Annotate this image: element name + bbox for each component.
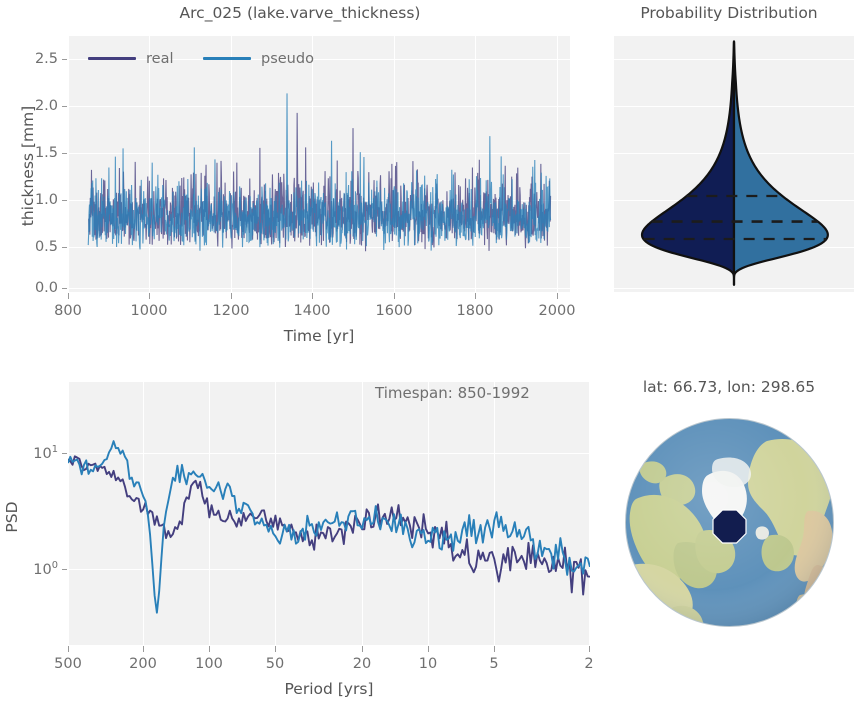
psd-xtick-label-100: 100 bbox=[195, 656, 223, 672]
psd-ytick-exp-0: 0 bbox=[52, 560, 58, 571]
psd-xtick-label-50: 50 bbox=[266, 656, 284, 672]
xtick-label-1600: 1600 bbox=[376, 303, 413, 319]
xtick-label-2000: 2000 bbox=[539, 303, 576, 319]
psd-ytick-mark-10e0 bbox=[62, 569, 67, 570]
timeseries-curves bbox=[68, 36, 570, 292]
map-title: lat: 66.73, lon: 298.65 bbox=[600, 378, 858, 396]
map-panel: lat: 66.73, lon: 298.65 bbox=[600, 360, 858, 711]
psd-xtick-label-2: 2 bbox=[584, 656, 593, 672]
xtick-mark-1600 bbox=[394, 293, 395, 299]
psd-timespan-annotation: Timespan: 850-1992 bbox=[375, 384, 530, 402]
psd-ytick-mark-10e1 bbox=[62, 453, 67, 454]
psd-xlabel: Period [yrs] bbox=[68, 680, 590, 698]
ytick-mark-0.0 bbox=[62, 288, 67, 289]
psd-curves bbox=[68, 382, 590, 645]
psd-xtick-mark-200 bbox=[143, 646, 144, 652]
legend-label-real: real bbox=[146, 51, 173, 67]
site-marker-icon bbox=[713, 510, 746, 543]
ytick-mark-2.0 bbox=[62, 106, 67, 107]
psd-panel: Timespan: 850-1992 101 100 500 200 100 5… bbox=[0, 360, 600, 711]
xtick-mark-2000 bbox=[557, 293, 558, 299]
psd-xtick-mark-5 bbox=[494, 646, 495, 652]
psd-xtick-mark-10 bbox=[428, 646, 429, 652]
ytick-label-2.5: 2.5 bbox=[18, 51, 58, 67]
psd-xtick-mark-500 bbox=[68, 646, 69, 652]
psd-xtick-mark-100 bbox=[209, 646, 210, 652]
violin-title: Probability Distribution bbox=[600, 4, 858, 22]
psd-ylabel: PSD bbox=[3, 447, 21, 587]
xtick-label-1000: 1000 bbox=[131, 303, 168, 319]
legend-swatch-pseudo bbox=[203, 57, 251, 60]
ytick-mark-1.5 bbox=[62, 153, 67, 154]
xtick-mark-800 bbox=[68, 293, 69, 299]
psd-xtick-mark-50 bbox=[275, 646, 276, 652]
ytick-mark-1.0 bbox=[62, 200, 67, 201]
timeseries-title: Arc_025 (lake.varve_thickness) bbox=[0, 4, 600, 22]
psd-xtick-label-20: 20 bbox=[353, 656, 371, 672]
legend-swatch-real bbox=[88, 57, 136, 60]
timeseries-panel: Arc_025 (lake.varve_thickness) 2.5 2.0 1… bbox=[0, 0, 600, 360]
timeseries-ylabel: thickness [mm] bbox=[19, 76, 37, 256]
psd-xtick-mark-20 bbox=[362, 646, 363, 652]
xtick-label-1200: 1200 bbox=[213, 303, 250, 319]
ytick-mark-0.5 bbox=[62, 247, 67, 248]
psd-ytick-exp-1: 1 bbox=[52, 444, 58, 455]
psd-xtick-label-5: 5 bbox=[489, 656, 498, 672]
figure-canvas: Arc_025 (lake.varve_thickness) 2.5 2.0 1… bbox=[0, 0, 858, 711]
legend-label-pseudo: pseudo bbox=[261, 51, 314, 67]
xtick-mark-1400 bbox=[312, 293, 313, 299]
xtick-label-800: 800 bbox=[54, 303, 82, 319]
violin-panel: Probability Distribution bbox=[600, 0, 858, 360]
globe-graphic bbox=[622, 415, 837, 630]
timeseries-xlabel: Time [yr] bbox=[68, 327, 570, 345]
xtick-label-1400: 1400 bbox=[294, 303, 331, 319]
violin-shape bbox=[614, 36, 854, 292]
psd-xtick-label-500: 500 bbox=[54, 656, 82, 672]
xtick-mark-1800 bbox=[475, 293, 476, 299]
globe-container bbox=[622, 415, 837, 630]
ytick-mark-2.5 bbox=[62, 59, 67, 60]
psd-ytick-base-1: 10 bbox=[33, 446, 51, 462]
xtick-mark-1200 bbox=[231, 293, 232, 299]
psd-xtick-label-200: 200 bbox=[129, 656, 157, 672]
ytick-label-0.0: 0.0 bbox=[18, 280, 58, 296]
psd-xtick-label-10: 10 bbox=[419, 656, 437, 672]
xtick-label-1800: 1800 bbox=[457, 303, 494, 319]
xtick-mark-1000 bbox=[149, 293, 150, 299]
psd-xtick-mark-2 bbox=[589, 646, 590, 652]
psd-ytick-base-0: 10 bbox=[33, 562, 51, 578]
